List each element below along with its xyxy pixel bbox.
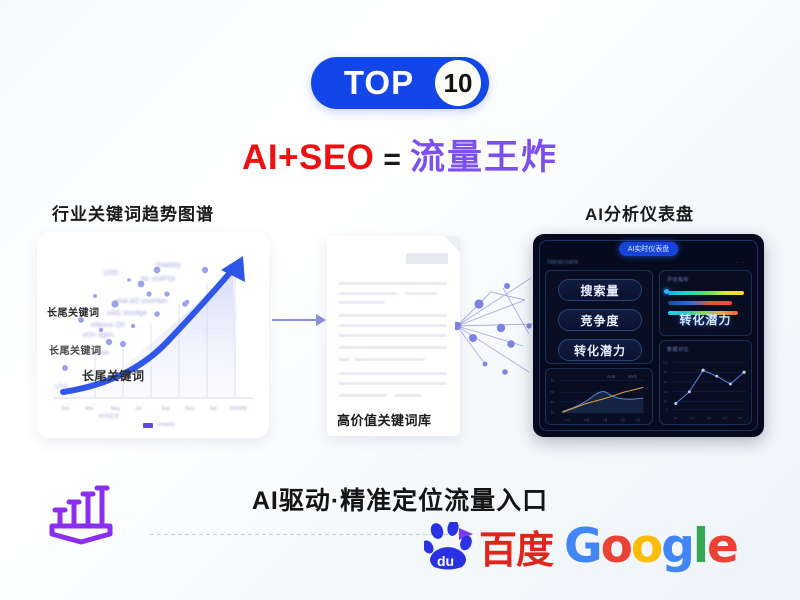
ai-dashboard-panel: AI实时仪表盘 TREND DATA · · · 搜索量 竞争度 转化潜力 80… (533, 234, 764, 437)
top-rank-badge: TOP 10 (311, 57, 489, 109)
svg-text:Q5: Q5 (738, 416, 742, 420)
svg-text:0: 0 (666, 407, 668, 411)
fuzzy-label-0: Volatility (155, 262, 181, 269)
metric-pill-conversion[interactable]: 转化潜力 (558, 339, 642, 361)
doc-line (339, 372, 447, 375)
baidu-logo: du 百度 (424, 522, 553, 570)
metrics-pill-panel: 搜索量 竞争度 转化潜力 (545, 270, 653, 364)
doc-line (339, 346, 447, 349)
score-gradient-panel: 评估指标 转化潜力 (659, 270, 752, 336)
doc-line (395, 394, 421, 397)
search-engine-logos: du 百度 Google (424, 522, 737, 570)
google-letter-3: g (661, 519, 693, 574)
doc-line (339, 324, 447, 327)
svg-text:Q2: Q2 (690, 416, 694, 420)
fuzzy-label-3: oAG stoellge (107, 310, 147, 317)
x-tick-2: May (111, 406, 120, 412)
doc-label: 高价值关键词库 (337, 410, 432, 429)
dashed-connector-line (150, 534, 470, 535)
left-section-heading: 行业关键词趋势图谱 (52, 200, 214, 225)
svg-text:11月: 11月 (564, 418, 570, 422)
doc-line (405, 292, 437, 295)
svg-text:80: 80 (551, 379, 555, 383)
doc-line (339, 282, 447, 285)
fuzzy-label-7: 1200 (103, 270, 119, 277)
fuzzy-label-2: vkaLbO soumlan (115, 298, 168, 305)
fuzzy-label-1: Nc shdPOt (141, 276, 175, 283)
dashboard-title-badge: AI实时仪表盘 (619, 242, 679, 256)
baidu-paw-icon: du (424, 522, 476, 570)
flow-arrow-icon (272, 312, 326, 328)
keyword-label-0: 长尾关键词 (47, 304, 100, 319)
svg-text:100: 100 (663, 360, 668, 364)
svg-text:40: 40 (664, 390, 668, 394)
keyword-label-1: 长尾关键词 (49, 342, 102, 357)
legend-label: Volatility (157, 422, 175, 428)
svg-text:访问量: 访问量 (607, 374, 616, 379)
dashboard-menu-icon[interactable]: · · · (737, 260, 751, 266)
title-equals: = (383, 143, 401, 176)
x-tick-1: Mar (85, 406, 94, 412)
doc-line (339, 382, 447, 385)
keyword-library-document: 高价值关键词库 (327, 236, 460, 436)
svg-text:Q4: Q4 (723, 416, 727, 420)
baidu-chinese-text: 百度 (479, 532, 553, 570)
google-letter-2: o (631, 519, 661, 574)
comparison-line-panel: 数据对比 1008060 40200 Q1Q2Q3 Q4Q5 (659, 340, 752, 425)
x-tick-3: Jul (135, 406, 141, 412)
fuzzy-label-8: sTG (55, 384, 68, 391)
google-letter-4: l (693, 519, 707, 574)
x-tick-6: Jan (209, 406, 217, 412)
area-chart-svg: 8060 4020 11月12月 1月2月3月 访问量转化率 (546, 369, 652, 424)
svg-text:3月: 3月 (636, 418, 641, 422)
gradient-overlay-label: 转化潜力 (660, 311, 751, 328)
doc-bullet (339, 358, 349, 361)
gradient-bar-1 (668, 291, 744, 295)
svg-text:60: 60 (551, 390, 555, 394)
keyword-trend-card: Volatility Nc shdPOt vkaLbO soumlan oAG … (37, 232, 269, 438)
trend-area-panel: 8060 4020 11月12月 1月2月3月 访问量转化率 (545, 368, 653, 425)
google-letter-0: G (564, 519, 601, 574)
doc-line (355, 358, 425, 361)
x-axis-label: 时间区间 (99, 413, 119, 420)
title-right: 流量王炸 (410, 138, 558, 177)
badge-word: TOP (311, 64, 435, 102)
metric-pill-search-volume[interactable]: 搜索量 (558, 279, 642, 301)
google-letter-5: e (707, 519, 737, 574)
x-tick-5: Nov (185, 406, 194, 412)
svg-text:Q3: Q3 (707, 416, 711, 420)
svg-text:12月: 12月 (584, 418, 590, 422)
google-logo: Google (564, 523, 737, 570)
right-section-heading: AI分析仪表盘 (585, 200, 694, 225)
bottom-tagline: AI驱动·精准定位流量入口 (0, 481, 800, 517)
svg-text:转化率: 转化率 (628, 374, 637, 379)
metric-pill-competition[interactable]: 竞争度 (558, 309, 642, 331)
page-title: AI+SEO=流量王炸 (0, 129, 800, 180)
google-letter-1: o (601, 519, 631, 574)
badge-number: 10 (435, 60, 481, 106)
doc-line (339, 314, 447, 317)
svg-text:40: 40 (551, 400, 555, 404)
legend-swatch (143, 423, 153, 428)
svg-text:1月: 1月 (603, 418, 608, 422)
dashboard-brand: TREND DATA (547, 260, 578, 266)
node-network-graphic (455, 268, 535, 383)
page-fold-icon (444, 236, 460, 252)
svg-text:60: 60 (664, 380, 668, 384)
keyword-label-2: 长尾关键词 (82, 367, 145, 384)
doc-line (339, 334, 447, 337)
svg-text:80: 80 (664, 370, 668, 374)
chart-legend: Volatility (143, 422, 175, 428)
x-tick-4: Sep (161, 406, 170, 412)
x-tick-7: 2025/05 (229, 406, 247, 412)
doc-line (339, 301, 385, 304)
svg-text:2月: 2月 (620, 418, 625, 422)
title-left: AI+SEO (242, 138, 374, 177)
svg-text:20: 20 (551, 410, 555, 414)
doc-header-chip (406, 253, 448, 264)
gradient-panel-title: 评估指标 (667, 276, 689, 283)
doc-line (339, 292, 397, 295)
svg-text:20: 20 (664, 400, 668, 404)
x-tick-0: Jan (61, 406, 69, 412)
gradient-bar-2 (668, 301, 732, 305)
baidu-du-text: du (437, 553, 454, 569)
fuzzy-label-4: ellbouo Oh (91, 322, 125, 329)
fuzzy-label-5: eOn dgen (83, 332, 114, 339)
svg-text:Q1: Q1 (674, 416, 678, 420)
doc-line (339, 394, 387, 397)
line-chart-svg: 1008060 40200 Q1Q2Q3 Q4Q5 (660, 341, 751, 424)
